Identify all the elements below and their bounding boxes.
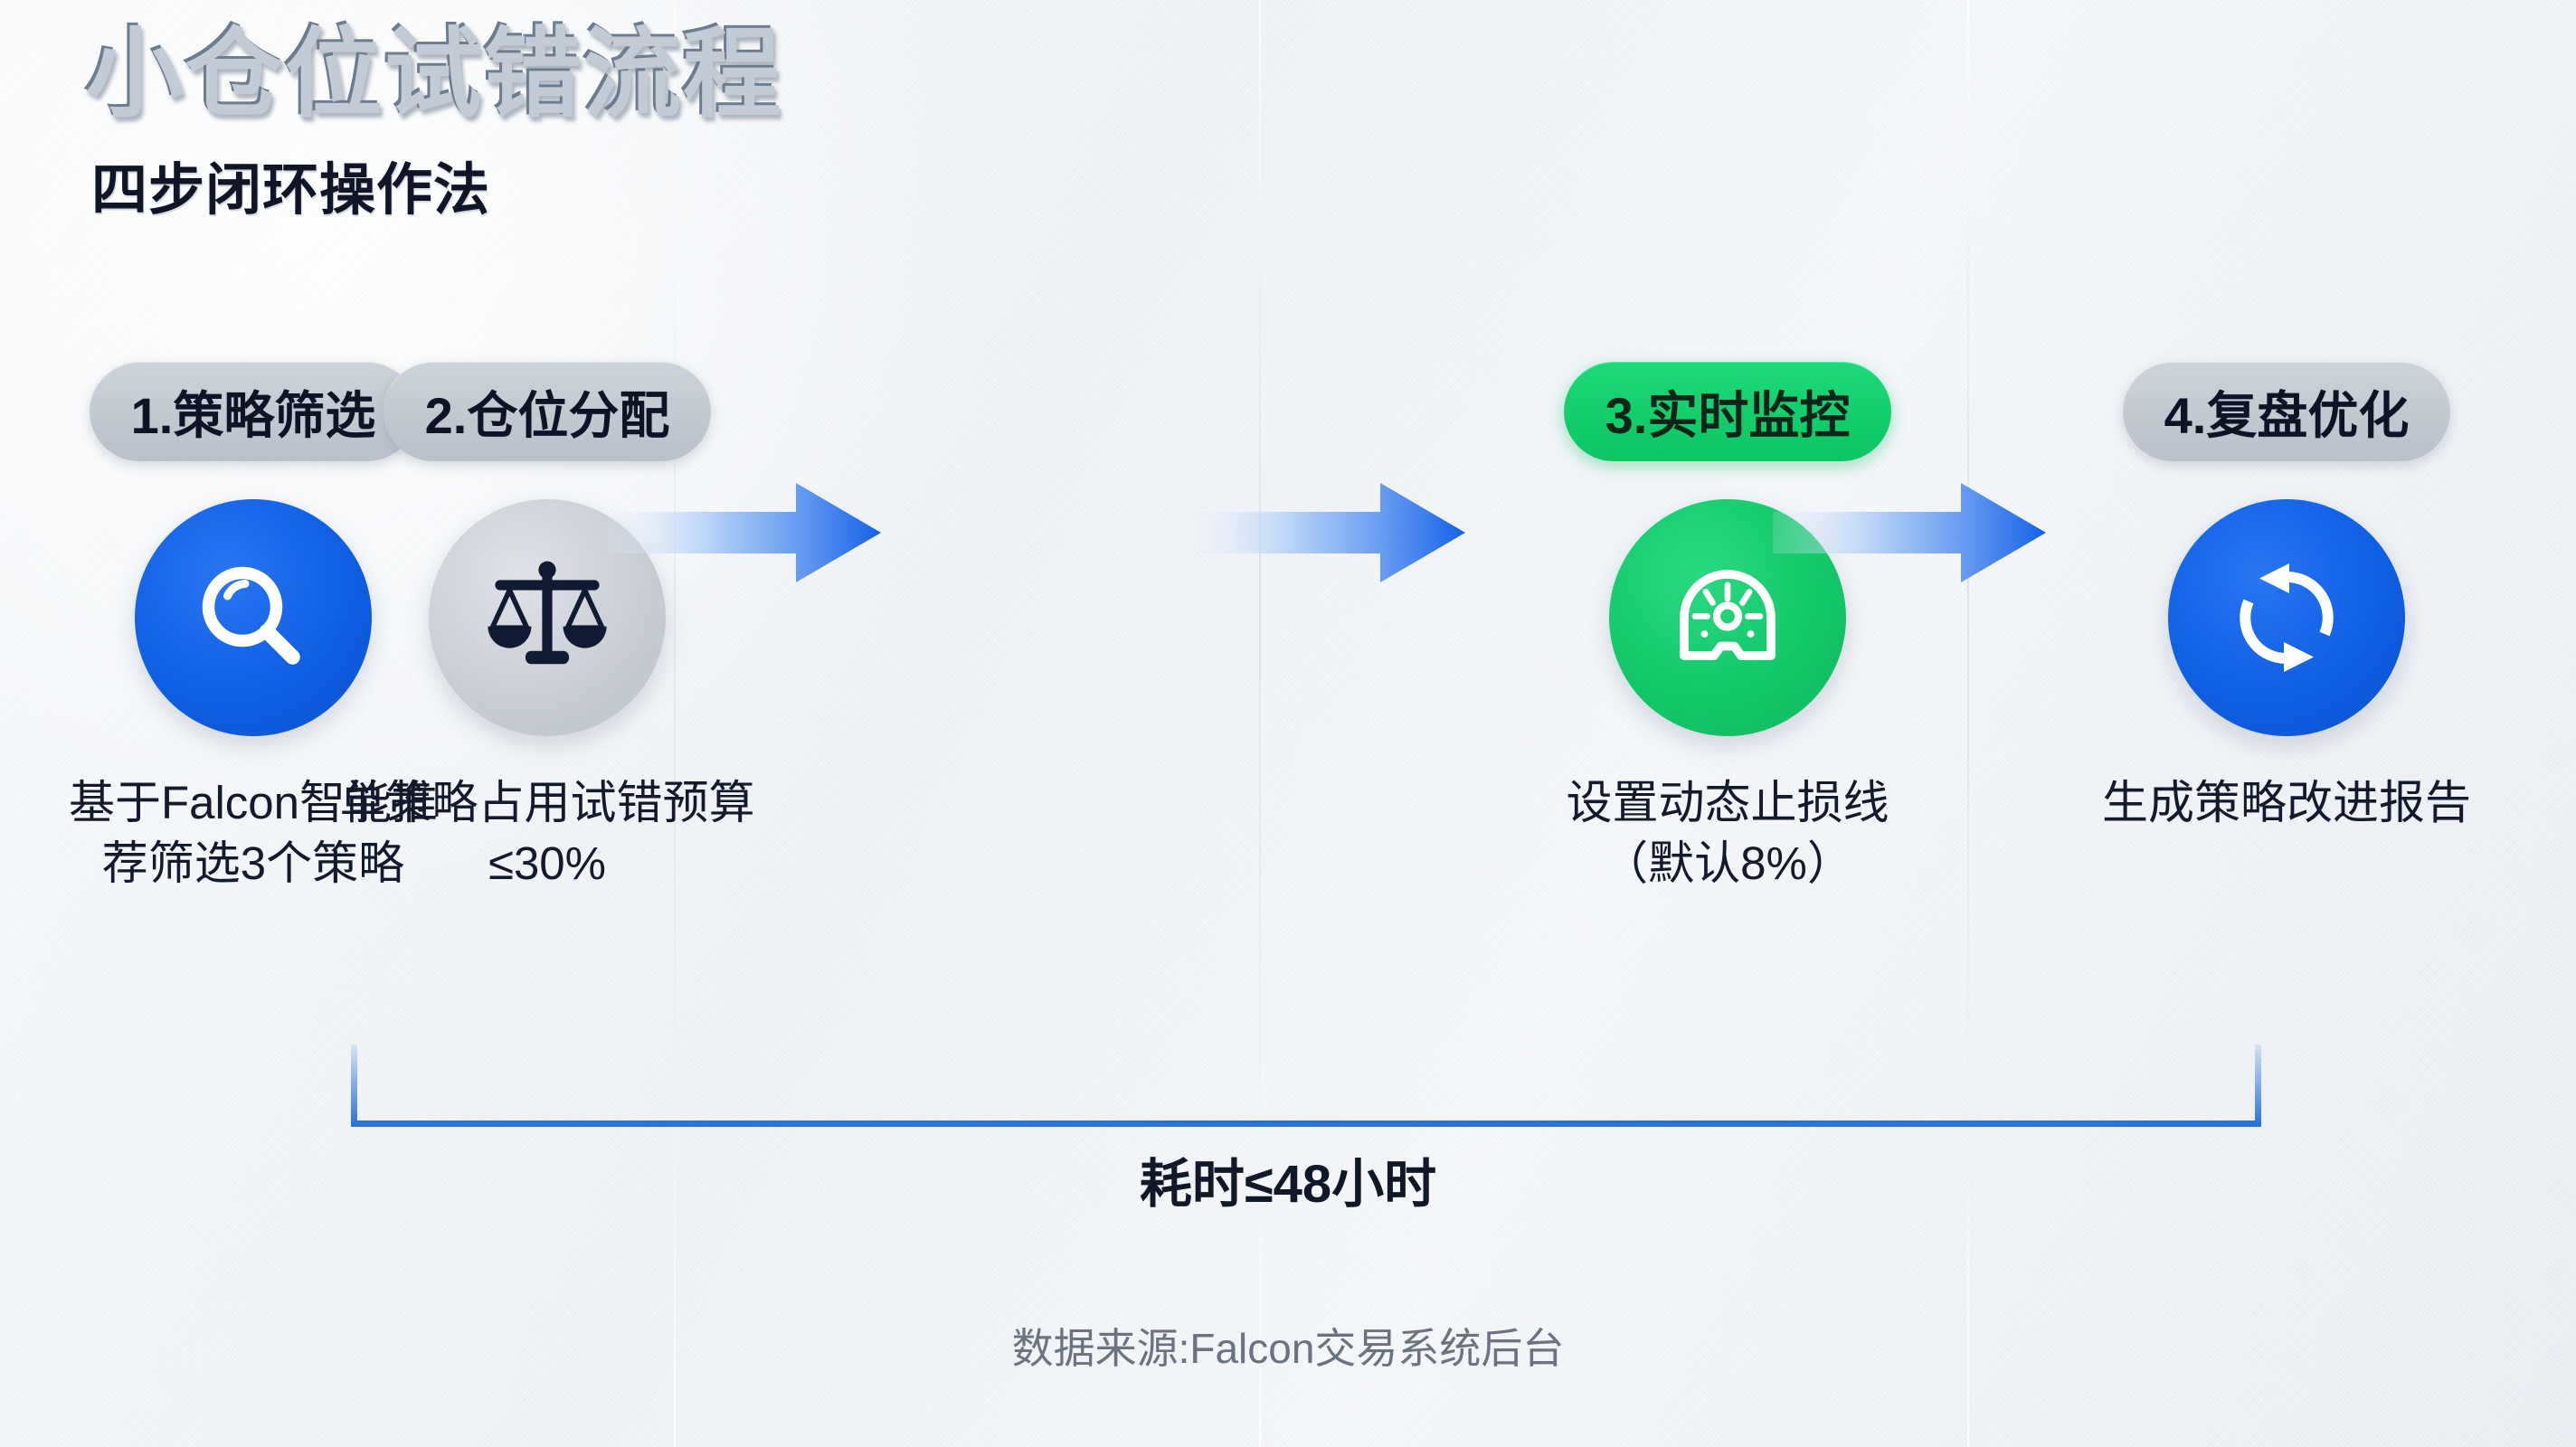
step-card-3[interactable]: 3.实时监控 设置动态止损线 （默认8%） (1438, 362, 2017, 894)
title-block: 小仓位试错流程 四步闭环操作法 (86, 20, 782, 225)
step-caption-3: 设置动态止损线 （默认8%） (1566, 772, 1889, 894)
step-badge-label-4: 4.复盘优化 (2164, 375, 2410, 449)
arrow-step1-to-step2 (608, 478, 881, 588)
step-card-4[interactable]: 4.复盘优化 生成策略改进报告 (1997, 362, 2576, 833)
balance-scale-icon (475, 545, 620, 690)
step-badge-label-2: 2.仓位分配 (425, 375, 670, 449)
steps-row: 1.策略筛选 基于Falcon智能推 荐筛选3个策略 2.仓位分配 (0, 362, 2576, 1013)
data-source-label: 数据来源:Falcon交易系统后台 (0, 1316, 2576, 1376)
duration-label: 耗时≤48小时 (0, 1141, 2576, 1217)
step-caption-4: 生成策略改进报告 (2102, 772, 2471, 833)
duration-bracket (351, 1045, 2261, 1131)
step-badge-3[interactable]: 3.实时监控 (1564, 362, 1892, 461)
step-badge-label-3: 3.实时监控 (1605, 375, 1851, 449)
page-title: 小仓位试错流程 (86, 20, 782, 129)
step-badge-2[interactable]: 2.仓位分配 (384, 362, 712, 461)
step-card-2[interactable]: 2.仓位分配 单策略占用试错预算 ≤30% (258, 362, 837, 894)
step-badge-4[interactable]: 4.复盘优化 (2123, 362, 2451, 461)
arrow-step2-to-step3 (1192, 478, 1465, 588)
refresh-loop-icon (2219, 550, 2354, 686)
page-subtitle: 四步闭环操作法 (91, 144, 782, 225)
step-caption-2: 单策略占用试错预算 ≤30% (339, 772, 754, 894)
arrow-step3-to-step4 (1773, 478, 2046, 588)
step-icon-circle-4 (2168, 499, 2405, 736)
